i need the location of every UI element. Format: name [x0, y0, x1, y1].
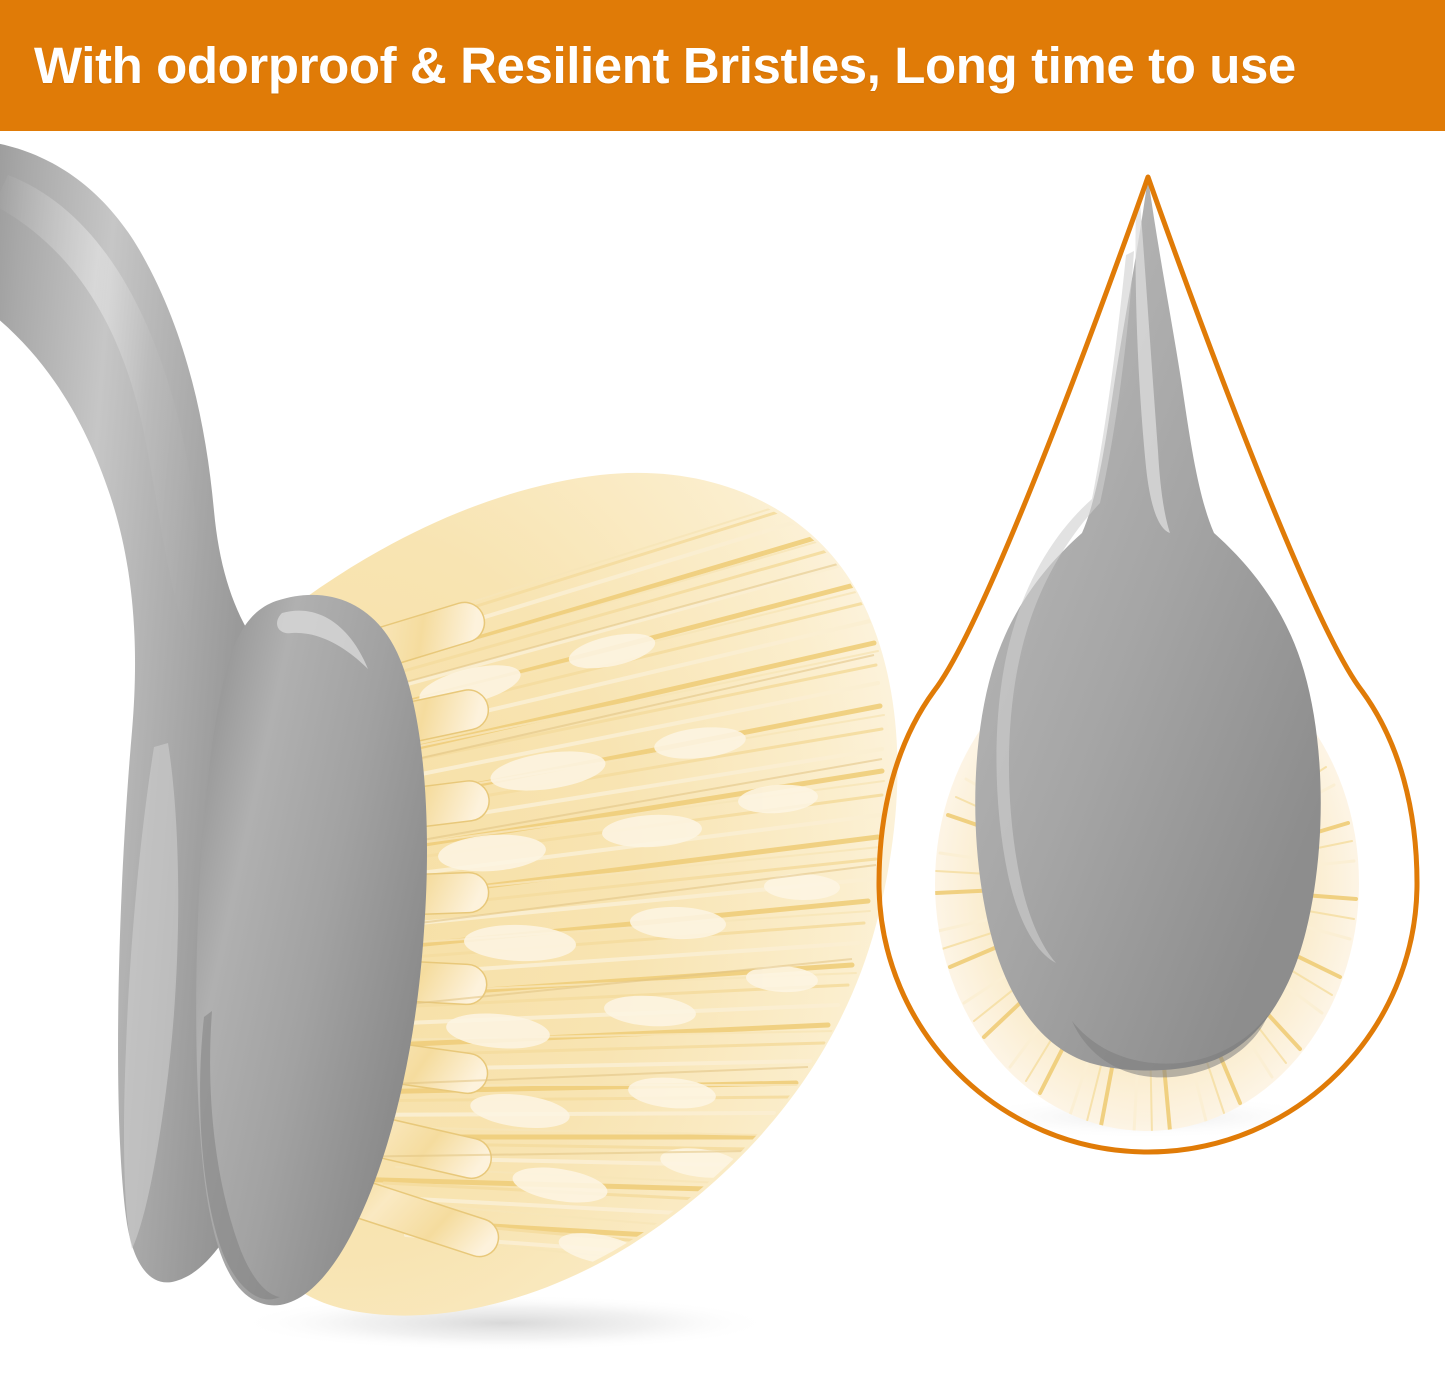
product-photo-stage: [0, 131, 1445, 1373]
header-banner: With odorproof & Resilient Bristles, Lon…: [0, 0, 1445, 131]
banner-headline: With odorproof & Resilient Bristles, Lon…: [0, 40, 1296, 91]
main-brush-drop-shadow: [237, 1295, 773, 1351]
teardrop-zoom-callout: [879, 177, 1417, 1152]
inset-brush-head: [975, 177, 1321, 1077]
main-brush-handle: [0, 139, 427, 1305]
product-marketing-image: With odorproof & Resilient Bristles, Lon…: [0, 0, 1445, 1373]
product-illustration: [0, 131, 1445, 1373]
